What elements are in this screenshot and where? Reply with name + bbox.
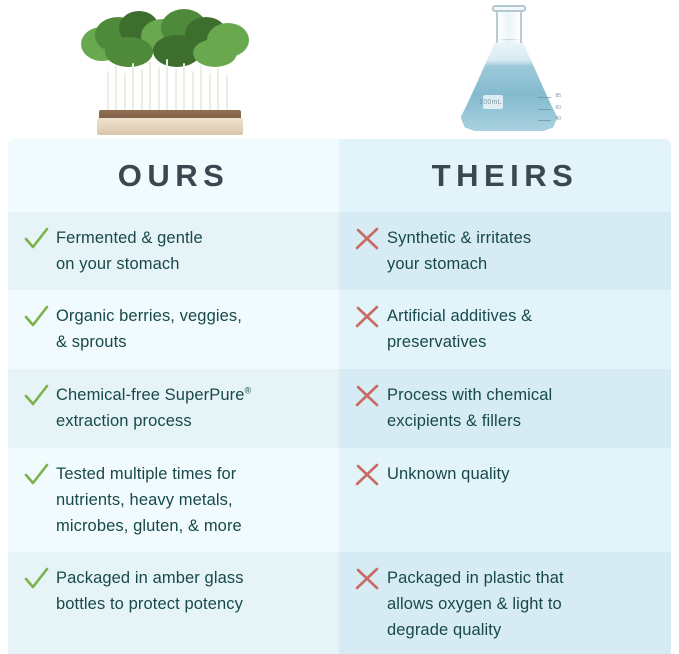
list-item: Process with chemicalexcipients & filler… [339, 369, 671, 448]
column-theirs: THEIRS Synthetic & irritatesyour stomach… [339, 139, 671, 654]
x-icon [353, 462, 383, 488]
list-item: Organic berries, veggies,& sprouts [8, 290, 339, 369]
list-item: Synthetic & irritatesyour stomach [339, 212, 671, 290]
comparison-infographic: 100mL 85 60 40 OURS Fermented & [0, 0, 679, 654]
benefit-list-ours: Fermented & gentleon your stomach Organi… [8, 212, 339, 654]
list-item-text: Chemical-free SuperPure®extraction proce… [52, 382, 251, 434]
list-item-text: Process with chemicalexcipients & filler… [383, 382, 552, 434]
column-header-ours: OURS [8, 139, 339, 212]
column-title-theirs: THEIRS [432, 158, 579, 194]
laboratory-flask-photo: 100mL 85 60 40 [449, 3, 569, 139]
list-item-text: Packaged in plastic thatallows oxygen & … [383, 565, 564, 643]
comparison-panel: OURS Fermented & gentleon your stomach O… [8, 139, 671, 654]
flask-graduation-60: 60 [555, 105, 561, 111]
drawback-list-theirs: Synthetic & irritatesyour stomach Artifi… [339, 212, 671, 654]
list-item: Artificial additives &preservatives [339, 290, 671, 369]
list-item-text: Unknown quality [383, 461, 510, 487]
microgreens-sprouts-photo [75, 3, 265, 139]
list-item: Unknown quality [339, 448, 671, 552]
list-item-text: Tested multiple times fornutrients, heav… [52, 461, 242, 539]
check-icon [22, 566, 52, 592]
hero-cell-ours [0, 0, 339, 139]
list-item-text: Synthetic & irritatesyour stomach [383, 225, 531, 277]
list-item: Packaged in plastic thatallows oxygen & … [339, 552, 671, 654]
hero-image-band: 100mL 85 60 40 [0, 0, 679, 139]
hero-cell-theirs: 100mL 85 60 40 [339, 0, 679, 139]
list-item: Tested multiple times fornutrients, heav… [8, 448, 339, 552]
list-item-text: Fermented & gentleon your stomach [52, 225, 203, 277]
flask-volume-label: 100mL [479, 99, 523, 106]
list-item: Packaged in amber glassbottles to protec… [8, 552, 339, 654]
list-item: Fermented & gentleon your stomach [8, 212, 339, 290]
x-icon [353, 566, 383, 592]
check-icon [22, 304, 52, 330]
flask-graduation-85: 85 [555, 93, 561, 99]
check-icon [22, 383, 52, 409]
column-title-ours: OURS [118, 158, 230, 194]
column-ours: OURS Fermented & gentleon your stomach O… [8, 139, 339, 654]
check-icon [22, 226, 52, 252]
list-item-text: Artificial additives &preservatives [383, 303, 532, 355]
list-item-text: Organic berries, veggies,& sprouts [52, 303, 242, 355]
check-icon [22, 462, 52, 488]
column-header-theirs: THEIRS [339, 139, 671, 212]
x-icon [353, 226, 383, 252]
x-icon [353, 304, 383, 330]
x-icon [353, 383, 383, 409]
flask-graduation-40: 40 [555, 116, 561, 122]
list-item-text: Packaged in amber glassbottles to protec… [52, 565, 244, 617]
list-item: Chemical-free SuperPure®extraction proce… [8, 369, 339, 448]
